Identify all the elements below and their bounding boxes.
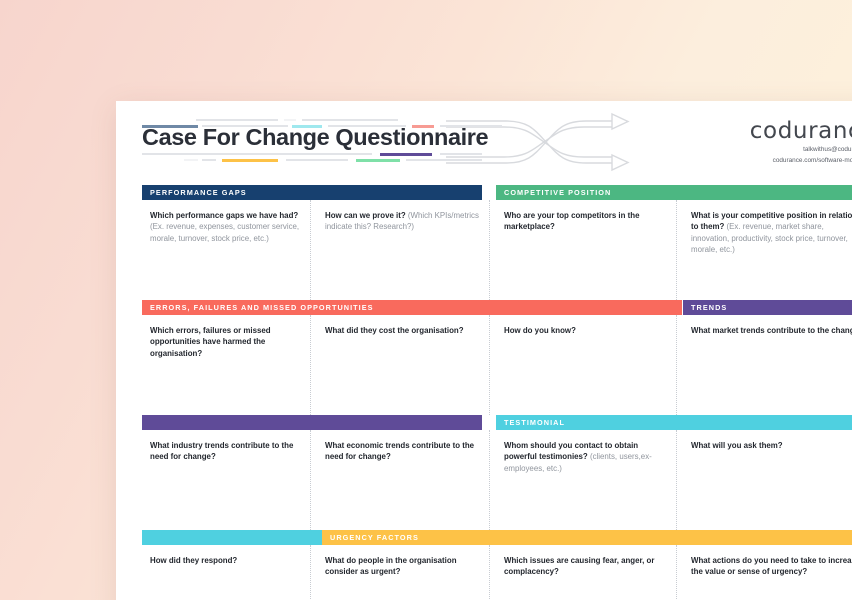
rule-segment [196, 119, 278, 121]
question-text: Which errors, failures or missed opportu… [150, 325, 305, 359]
rule-segment [356, 159, 400, 162]
sheet-header: Case For Change Questionnaire codurance … [116, 101, 852, 185]
question-cell[interactable]: What actions do you need to take to incr… [683, 545, 852, 600]
column-divider [676, 430, 678, 530]
question-text: Whom should you contact to obtain powerf… [504, 440, 671, 474]
question-cell[interactable]: Which errors, failures or missed opportu… [142, 315, 317, 415]
question-text: What will you ask them? [691, 440, 852, 451]
question-cell-group: How did they respond?What do people in t… [116, 545, 852, 600]
rule-segment [406, 159, 482, 161]
question-cell[interactable]: What market trends contribute to the cha… [683, 315, 852, 415]
question-hint: (clients, users,ex-employees, etc.) [504, 452, 652, 472]
question-cell-group: Which errors, failures or missed opportu… [116, 315, 852, 415]
question-hint: (Which KPIs/metrics indicate this? Resea… [325, 211, 479, 231]
question-cell[interactable]: Which issues are causing fear, anger, or… [496, 545, 683, 600]
section-band-group: PERFORMANCE GAPSCOMPETITIVE POSITION [116, 185, 852, 200]
question-cell[interactable]: How did they respond? [142, 545, 317, 600]
rule-segment [380, 153, 432, 156]
column-divider [676, 545, 678, 600]
section-band: COMPETITIVE POSITION [496, 185, 852, 200]
section-band [142, 530, 322, 545]
question-text: How can we prove it? (Which KPIs/metrics… [325, 210, 484, 233]
question-cell[interactable]: What economic trends contribute to the n… [317, 430, 496, 530]
section-band-group: TESTIMONIAL [116, 415, 852, 430]
question-text: What market trends contribute to the cha… [691, 325, 852, 336]
contact-url: codurance.com/software-modernisat [773, 157, 852, 164]
rule-segment [184, 159, 198, 161]
question-text: How do you know? [504, 325, 671, 336]
column-divider [489, 315, 491, 415]
question-text: What industry trends contribute to the n… [150, 440, 305, 463]
question-text: What did they cost the organisation? [325, 325, 484, 336]
column-divider [310, 315, 312, 415]
column-divider [310, 200, 312, 300]
section-band: PERFORMANCE GAPS [142, 185, 482, 200]
section-band: TRENDS [683, 300, 852, 315]
column-divider [489, 545, 491, 600]
question-cell-group: What industry trends contribute to the n… [116, 430, 852, 530]
questionnaire-row: URGENCY FACTORSHow did they respond?What… [116, 530, 852, 600]
rule-segment [222, 159, 278, 162]
question-text: What is your competitive position in rel… [691, 210, 852, 256]
question-hint: (Ex. revenue, market share, innovation, … [691, 222, 848, 254]
rule-segment [142, 153, 372, 155]
question-hint: (Ex. revenue, expenses, customer service… [150, 222, 299, 242]
section-band-group: ERRORS, FAILURES AND MISSED OPPORTUNITIE… [116, 300, 852, 315]
rule-segment [440, 153, 482, 155]
rule-segment [284, 119, 296, 121]
section-band-group: URGENCY FACTORS [116, 530, 852, 545]
page-title: Case For Change Questionnaire [142, 124, 488, 151]
question-cell[interactable]: How can we prove it? (Which KPIs/metrics… [317, 200, 496, 300]
question-text: What do people in the organisation consi… [325, 555, 484, 578]
contact-email: talkwithus@codurance.co [803, 146, 852, 153]
section-band: ERRORS, FAILURES AND MISSED OPPORTUNITIE… [142, 300, 682, 315]
column-divider [676, 315, 678, 415]
rule-segment [286, 159, 348, 161]
column-divider [489, 200, 491, 300]
logo-text: codurance [750, 118, 852, 144]
column-divider [310, 430, 312, 530]
question-cell[interactable]: What do people in the organisation consi… [317, 545, 496, 600]
section-band [142, 415, 482, 430]
column-divider [489, 430, 491, 530]
question-cell[interactable]: What industry trends contribute to the n… [142, 430, 317, 530]
question-cell[interactable]: What did they cost the organisation? [317, 315, 496, 415]
questionnaire-row: PERFORMANCE GAPSCOMPETITIVE POSITIONWhic… [116, 185, 852, 300]
question-cell[interactable]: How do you know? [496, 315, 683, 415]
question-text: Who are your top competitors in the mark… [504, 210, 671, 233]
questionnaire-sheet: Case For Change Questionnaire codurance … [116, 101, 852, 600]
question-text: Which performance gaps we have had? (Ex.… [150, 210, 305, 244]
question-text: What actions do you need to take to incr… [691, 555, 852, 578]
question-text: What economic trends contribute to the n… [325, 440, 484, 463]
rule-segment [202, 159, 216, 161]
question-cell[interactable]: Whom should you contact to obtain powerf… [496, 430, 683, 530]
section-band: URGENCY FACTORS [322, 530, 852, 545]
column-divider [310, 545, 312, 600]
rule-segment [302, 119, 398, 121]
question-cell[interactable]: Who are your top competitors in the mark… [496, 200, 683, 300]
question-cell[interactable]: Which performance gaps we have had? (Ex.… [142, 200, 317, 300]
question-text: Which issues are causing fear, anger, or… [504, 555, 671, 578]
question-text: How did they respond? [150, 555, 305, 566]
column-divider [676, 200, 678, 300]
questionnaire-row: ERRORS, FAILURES AND MISSED OPPORTUNITIE… [116, 300, 852, 415]
section-band: TESTIMONIAL [496, 415, 852, 430]
question-cell[interactable]: What will you ask them? [683, 430, 852, 530]
question-cell-group: Which performance gaps we have had? (Ex.… [116, 200, 852, 300]
question-cell[interactable]: What is your competitive position in rel… [683, 200, 852, 300]
questionnaire-row: TESTIMONIALWhat industry trends contribu… [116, 415, 852, 530]
page-background: Case For Change Questionnaire codurance … [0, 0, 852, 600]
codurance-logo: codurance [750, 118, 852, 144]
